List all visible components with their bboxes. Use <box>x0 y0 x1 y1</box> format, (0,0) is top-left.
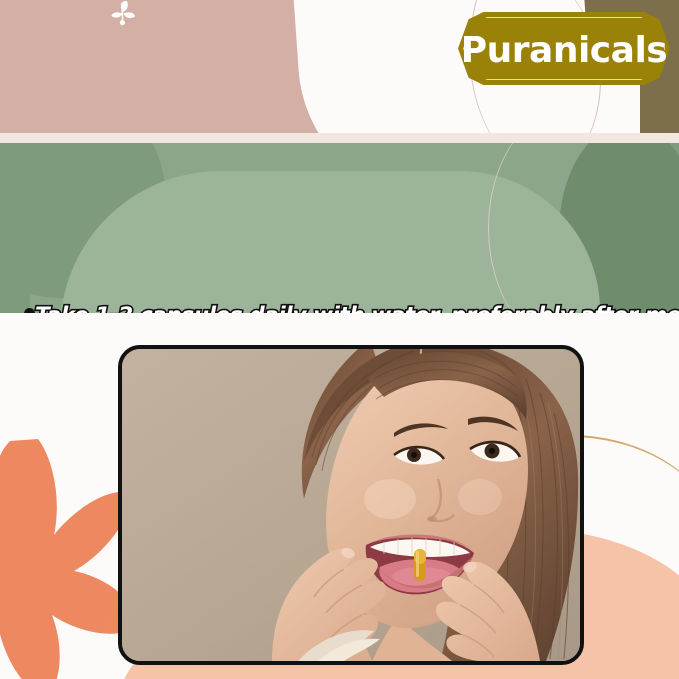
leaf-sprout-icon <box>104 0 140 30</box>
product-photo <box>118 345 584 665</box>
bullet-list: Take 1-2 capsules daily with water, pref… <box>0 143 679 313</box>
brand-logo-badge[interactable]: Puranicals <box>458 12 670 85</box>
list-item: Take 1-2 capsules daily with water, pref… <box>0 303 679 313</box>
product-infographic: Puranicals Take 1-2 capsules daily with … <box>0 0 679 679</box>
cream-divider-strip <box>0 133 679 143</box>
photo-illustration <box>122 349 580 661</box>
brand-name: Puranicals <box>461 33 667 69</box>
bullet-text: Take 1-2 capsules daily with water, pref… <box>35 303 679 313</box>
capsule-icon <box>414 549 426 581</box>
usage-instructions-banner: Take 1-2 capsules daily with water, pref… <box>0 143 679 313</box>
